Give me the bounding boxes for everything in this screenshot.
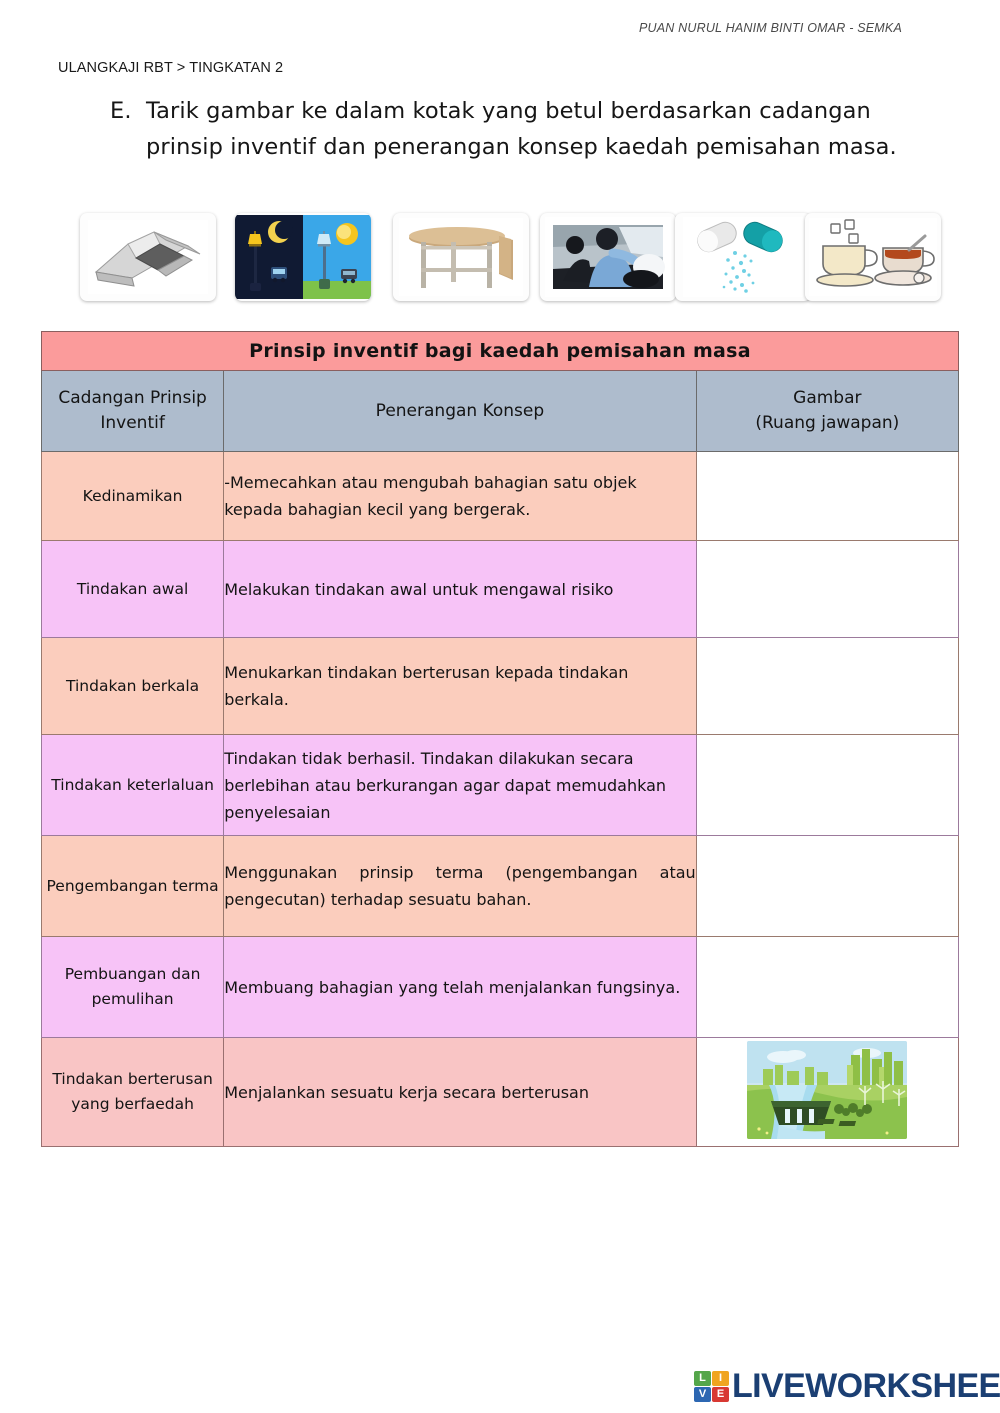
cell-principle: Pembuangan dan pemulihan	[42, 937, 224, 1038]
answer-dropzone-filled[interactable]	[696, 1038, 958, 1147]
cell-concept: Tindakan tidak berhasil. Tindakan dilaku…	[224, 735, 696, 836]
two-cups-hot-drink-icon	[805, 213, 941, 301]
column-header-answer-line1: Gambar	[697, 386, 958, 411]
thumb-car-airbag-crash[interactable]	[540, 213, 676, 301]
logo-letter-e: E	[712, 1387, 729, 1402]
column-header-answer: Gambar (Ruang jawapan)	[696, 371, 958, 452]
logo-letter-i: I	[712, 1371, 729, 1386]
car-airbag-crash-icon	[540, 213, 676, 301]
logo-letter-l: L	[694, 1371, 711, 1386]
thumb-folding-drop-leaf-table[interactable]	[393, 213, 529, 301]
cell-concept: Menukarkan tindakan berterusan kepada ti…	[224, 638, 696, 735]
table-row: Tindakan berkala Menukarkan tindakan ber…	[42, 638, 959, 735]
cell-principle: Tindakan berterusan yang berfaedah	[42, 1038, 224, 1147]
answer-dropzone[interactable]	[696, 836, 958, 937]
answer-dropzone[interactable]	[696, 541, 958, 638]
column-header-principle: Cadangan Prinsip Inventif	[42, 371, 224, 452]
cell-principle: Tindakan keterlaluan	[42, 735, 224, 836]
table-row: Pengembangan terma Menggunakan prinsip t…	[42, 836, 959, 937]
cell-principle: Pengembangan terma	[42, 836, 224, 937]
liveworksheets-wordmark: LIVEWORKSHEETS	[732, 1369, 1000, 1403]
street-lamp-night-day-icon	[235, 213, 371, 301]
cell-principle: Kedinamikan	[42, 452, 224, 541]
thumb-metal-roofing-sheet[interactable]	[80, 213, 216, 301]
hydro-dam-city-landscape-image	[747, 1041, 907, 1139]
table-row: Kedinamikan -Memecahkan atau mengubah ba…	[42, 452, 959, 541]
table-row: Tindakan berterusan yang berfaedah Menja…	[42, 1038, 959, 1147]
table-header-row: Cadangan Prinsip Inventif Penerangan Kon…	[42, 371, 959, 452]
cell-concept: Menggunakan prinsip terma (pengembangan …	[224, 836, 696, 937]
cell-concept: Melakukan tindakan awal untuk mengawal r…	[224, 541, 696, 638]
cell-principle: Tindakan berkala	[42, 638, 224, 735]
table-row: Pembuangan dan pemulihan Membuang bahagi…	[42, 937, 959, 1038]
table-title: Prinsip inventif bagi kaedah pemisahan m…	[42, 332, 959, 371]
thumb-medicine-capsule-granules[interactable]	[675, 213, 811, 301]
answer-dropzone[interactable]	[696, 735, 958, 836]
folding-drop-leaf-table-icon	[393, 213, 529, 301]
cell-concept: Membuang bahagian yang telah menjalankan…	[224, 937, 696, 1038]
thumb-two-cups-hot-drink[interactable]	[805, 213, 941, 301]
table-title-row: Prinsip inventif bagi kaedah pemisahan m…	[42, 332, 959, 371]
table-row: Tindakan awal Melakukan tindakan awal un…	[42, 541, 959, 638]
column-header-answer-line2: (Ruang jawapan)	[697, 411, 958, 436]
instruction-text: Tarik gambar ke dalam kotak yang betul b…	[110, 93, 920, 165]
instruction-letter: E.	[110, 93, 132, 129]
thumb-street-lamp-night-day[interactable]	[235, 213, 371, 301]
draggable-image-strip	[80, 213, 940, 303]
logo-letter-v: V	[694, 1387, 711, 1402]
answer-dropzone[interactable]	[696, 937, 958, 1038]
liveworksheets-logo[interactable]: L I V E LIVEWORKSHEETS	[694, 1366, 1000, 1406]
liveworksheets-mark-icon: L I V E	[694, 1371, 729, 1402]
table-row: Tindakan keterlaluan Tindakan tidak berh…	[42, 735, 959, 836]
medicine-capsule-granules-icon	[675, 213, 811, 301]
answer-dropzone[interactable]	[696, 638, 958, 735]
column-header-principle-line2: Inventif	[42, 411, 223, 436]
cell-concept: -Memecahkan atau mengubah bahagian satu …	[224, 452, 696, 541]
answer-dropzone[interactable]	[696, 452, 958, 541]
breadcrumb: ULANGKAJI RBT > TINGKATAN 2	[58, 60, 283, 76]
column-header-concept: Penerangan Konsep	[224, 371, 696, 452]
inventive-principles-table: Prinsip inventif bagi kaedah pemisahan m…	[41, 331, 959, 1147]
metal-roofing-sheet-icon	[80, 213, 216, 301]
cell-concept: Menjalankan sesuatu kerja secara berteru…	[224, 1038, 696, 1147]
cell-principle: Tindakan awal	[42, 541, 224, 638]
author-credit: PUAN NURUL HANIM BINTI OMAR - SEMKA	[639, 21, 902, 35]
column-header-principle-line1: Cadangan Prinsip	[42, 386, 223, 411]
instruction-block: E. Tarik gambar ke dalam kotak yang betu…	[110, 93, 920, 165]
